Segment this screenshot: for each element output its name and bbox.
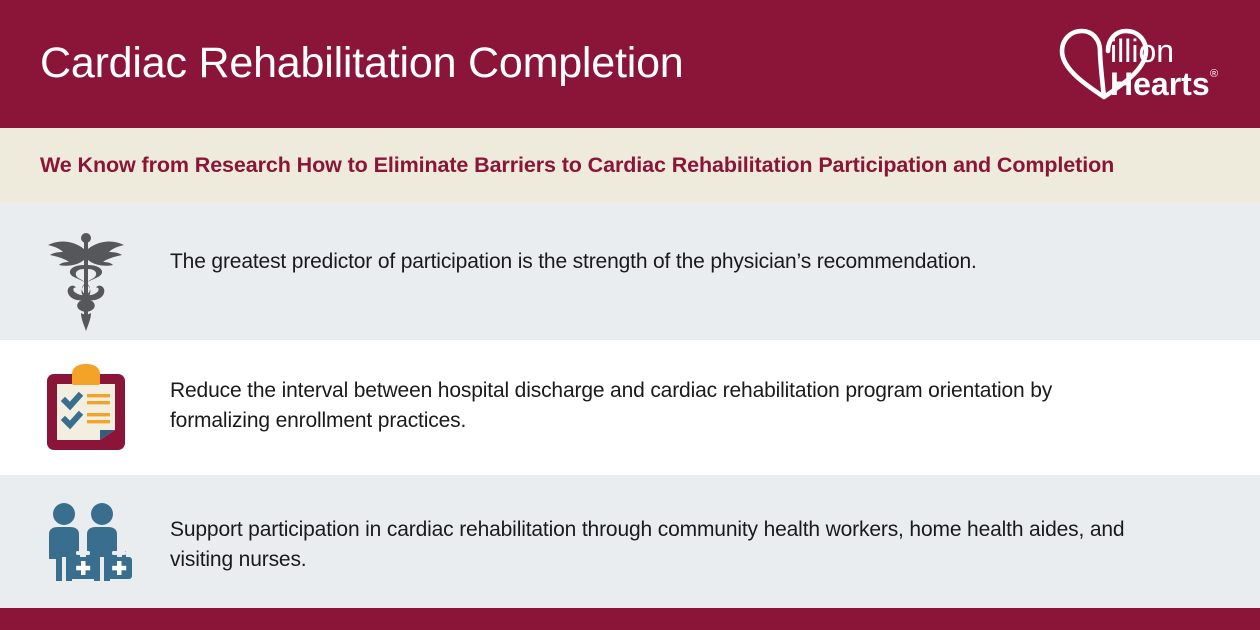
million-hearts-logo-icon: illion Hearts ®: [1044, 25, 1224, 103]
subtitle-text: We Know from Research How to Eliminate B…: [40, 153, 1114, 179]
infographic-root: Cardiac Rehabilitation Completion illion…: [0, 0, 1260, 630]
fact-row: Support participation in cardiac rehabil…: [0, 475, 1260, 608]
header-bar: Cardiac Rehabilitation Completion illion…: [0, 0, 1260, 128]
community-health-workers-icon-glyph: [40, 499, 132, 591]
clipboard-checklist-icon-glyph: [40, 360, 132, 458]
logo-word-top: illion: [1110, 33, 1174, 69]
page-title: Cardiac Rehabilitation Completion: [40, 40, 684, 87]
fact-row: Reduce the interval between hospital dis…: [0, 340, 1260, 475]
fact-row-text: The greatest predictor of participation …: [132, 225, 1155, 277]
fact-row-text: Support participation in cardiac rehabil…: [132, 497, 1155, 575]
fact-row: The greatest predictor of participation …: [0, 203, 1260, 340]
subtitle-band: We Know from Research How to Eliminate B…: [0, 128, 1260, 203]
caduceus-icon-glyph: [40, 227, 132, 337]
logo-word-bottom: Hearts: [1110, 66, 1210, 102]
footer-bar: [0, 608, 1260, 630]
logo-registered-mark: ®: [1210, 68, 1218, 80]
million-hearts-logo: illion Hearts ®: [1044, 25, 1224, 103]
clipboard-checklist-icon: [40, 358, 132, 458]
caduceus-icon: [40, 225, 132, 337]
community-health-workers-icon: [40, 497, 132, 591]
fact-row-text: Reduce the interval between hospital dis…: [132, 358, 1155, 436]
